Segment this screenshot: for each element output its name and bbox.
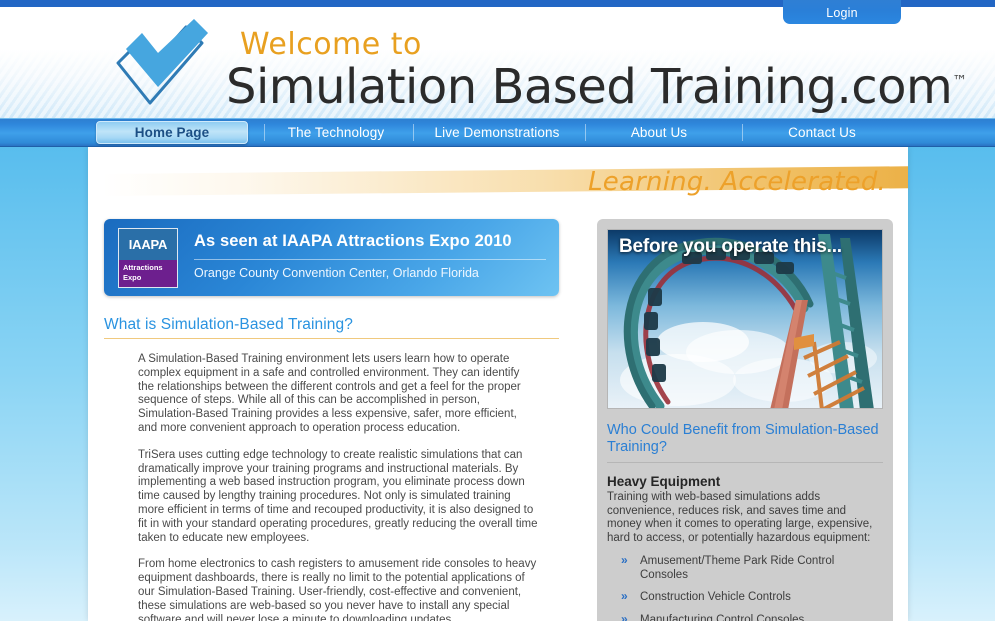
sidebar-panel: Before you operate this... Who Could Ben… [597, 219, 893, 621]
tagline: Learning. Accelerated. [588, 167, 886, 197]
iaapa-logo-subtitle: Attractions Expo [119, 260, 177, 287]
nav-separator [585, 124, 586, 141]
body-paragraph-1: A Simulation-Based Training environment … [138, 353, 538, 436]
iaapa-expo-banner[interactable]: IAAPA Attractions Expo As seen at IAAPA … [104, 219, 559, 296]
expo-banner-title: As seen at IAAPA Attractions Expo 2010 [194, 232, 512, 251]
nav-separator [264, 124, 265, 141]
main-content-column: IAAPA Attractions Expo As seen at IAAPA … [104, 219, 564, 621]
sidebar-benefit-list: »Amusement/Theme Park Ride Control Conso… [607, 555, 883, 621]
login-button[interactable]: Login [783, 0, 901, 24]
nav-separator [413, 124, 414, 141]
main-navigation: Home Page The Technology Live Demonstrat… [0, 118, 995, 147]
nav-item-home-page[interactable]: Home Page [96, 121, 248, 144]
main-body-copy: A Simulation-Based Training environment … [138, 353, 538, 621]
list-item: »Construction Vehicle Controls [638, 591, 883, 605]
roller-coaster-photo: Before you operate this... [607, 229, 883, 409]
sidebar-body-text: Training with web-based simulations adds… [607, 491, 883, 545]
nav-item-about-us[interactable]: About Us [594, 119, 724, 146]
iaapa-logo-subtitle-line2: Expo [123, 273, 177, 283]
expo-banner-divider [194, 259, 546, 260]
nav-item-the-technology[interactable]: The Technology [266, 119, 406, 146]
list-item: »Amusement/Theme Park Ride Control Conso… [638, 555, 883, 582]
sidebar-subheading: Heavy Equipment [607, 474, 883, 489]
page-section-heading: What is Simulation-Based Training? [104, 316, 559, 339]
iaapa-logo: IAAPA Attractions Expo [118, 228, 178, 288]
list-item-label: Amusement/Theme Park Ride Control Consol… [640, 555, 834, 581]
iaapa-logo-subtitle-line1: Attractions [123, 263, 177, 273]
body-paragraph-3: From home electronics to cash registers … [138, 558, 538, 621]
site-title-text: Simulation Based Training.com [226, 59, 952, 115]
list-item-label: Manufacturing Control Consoles [640, 614, 804, 621]
iaapa-logo-name: IAAPA [119, 229, 177, 260]
list-item: »Manufacturing Control Consoles [638, 614, 883, 621]
list-item-label: Construction Vehicle Controls [640, 591, 791, 603]
sidebar-image-caption: Before you operate this... [619, 236, 842, 258]
nav-item-live-demonstrations[interactable]: Live Demonstrations [415, 119, 579, 146]
double-chevron-right-icon: » [621, 554, 628, 568]
sidebar-heading: Who Could Benefit from Simulation-Based … [607, 422, 883, 463]
double-chevron-right-icon: » [621, 613, 628, 621]
body-paragraph-2: TriSera uses cutting edge technology to … [138, 449, 538, 546]
nav-separator [742, 124, 743, 141]
expo-banner-subtitle: Orange County Convention Center, Orlando… [194, 266, 479, 280]
nav-item-contact-us[interactable]: Contact Us [756, 119, 888, 146]
double-chevron-right-icon: » [621, 590, 628, 604]
site-title: Simulation Based Training.com™ [226, 53, 967, 115]
trademark-symbol: ™ [952, 72, 967, 90]
page-content-panel: Learning. Accelerated. IAAPA Attractions… [88, 147, 908, 621]
blue-double-checkmark-logo-icon[interactable] [112, 19, 208, 111]
